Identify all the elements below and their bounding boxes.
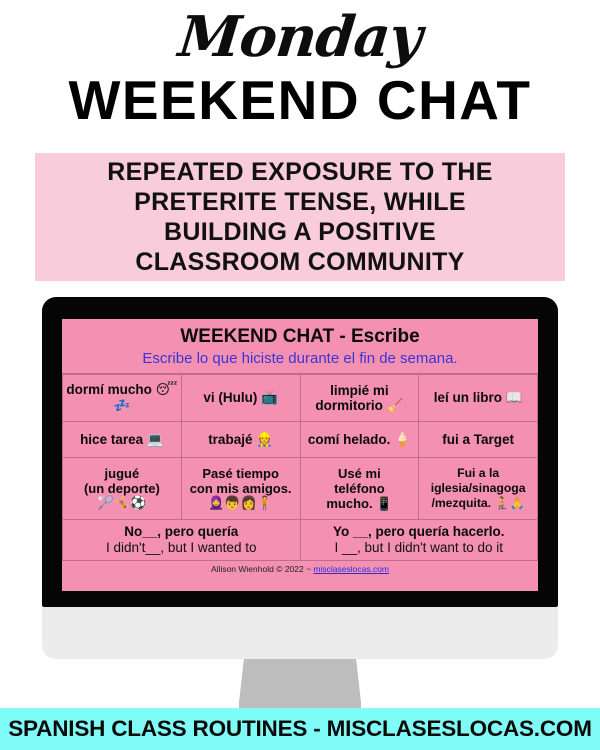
worker-emoji: 👷 [256,432,273,448]
cell-text: hice tarea [80,432,143,447]
table-row: jugué (un deporte) 🏸🤸⚽ Pasé tiempo con m… [63,458,538,520]
credit-link[interactable]: misclaseslocas.com [313,564,389,574]
cell-text: comí helado. [308,432,391,447]
screen-header: WEEKEND CHAT - Escribe Escribe lo que hi… [62,319,538,374]
friends-emoji: 🧕👦👩🧍 [184,496,298,511]
sentence-frame-affirmative[interactable]: Yo __, pero quería hacerlo. I __, but I … [300,520,538,561]
cell-text: vi (Hulu) [203,390,257,405]
bottom-banner-text: SPANISH CLASS ROUTINES - MISCLASESLOCAS.… [8,716,592,742]
book-emoji: 📖 [506,390,523,406]
praying-emoji: 🧎🙏 [494,496,524,510]
sentence-english: I __, but I didn't want to do it [303,540,536,556]
cell-text: limpié mi dormitorio [315,383,388,413]
screen-subtitle: Escribe lo que hiciste durante el fin de… [66,349,534,368]
broom-emoji: 🧹 [387,398,404,414]
cell-text: dormí mucho [66,382,152,397]
sentence-frame-negative[interactable]: No__, pero quería I didn't__, but I want… [63,520,301,561]
table-cell[interactable]: Pasé tiempo con mis amigos. 🧕👦👩🧍 [181,458,300,520]
page-title: WEEKEND CHAT [0,70,600,130]
table-cell[interactable]: Usé mi teléfono mucho. 📱 [300,458,419,520]
ice-cream-emoji: 🍦 [394,432,411,448]
table-row: hice tarea 💻 trabajé 👷 comí helado. 🍦 fu… [63,422,538,458]
table-cell[interactable]: leí un libro 📖 [419,375,538,422]
table-cell[interactable]: hice tarea 💻 [63,422,182,458]
table-cell[interactable]: Fui a la iglesia/sinagoga /mezquita. 🧎🙏 [419,458,538,520]
page-header: Monday WEEKEND CHAT [0,0,600,130]
sentence-english: I didn't__, but I wanted to [65,540,298,556]
table-cell[interactable]: trabajé 👷 [181,422,300,458]
monitor-chin [42,607,558,659]
credit-line: Allison Wienhold © 2022 ~ misclaseslocas… [62,561,538,574]
table-cell[interactable]: comí helado. 🍦 [300,422,419,458]
phone-emoji: 📱 [376,497,392,512]
credit-prefix: Allison Wienhold © 2022 ~ [211,564,313,574]
table-cell[interactable]: limpié mi dormitorio 🧹 [300,375,419,422]
monitor-bezel: WEEKEND CHAT - Escribe Escribe lo que hi… [42,297,558,607]
tv-emoji: 📺 [261,390,278,406]
subtitle-banner: REPEATED EXPOSURE TO THE PRETERITE TENSE… [35,153,565,281]
script-title: Monday [0,6,600,68]
monitor-stand [239,659,361,711]
sentence-spanish: No__, pero quería [65,524,298,540]
table-row: dormí mucho 😴💤 vi (Hulu) 📺 limpié mi dor… [63,375,538,422]
table-cell[interactable]: dormí mucho 😴💤 [63,375,182,422]
subtitle-text: REPEATED EXPOSURE TO THE PRETERITE TENSE… [99,157,501,277]
cell-text: leí un libro [434,390,502,405]
cell-text: trabajé [208,432,252,447]
sentence-spanish: Yo __, pero quería hacerlo. [303,524,536,540]
sports-emoji: 🏸🤸⚽ [65,496,179,511]
screen-title: WEEKEND CHAT - Escribe [66,325,534,348]
table-cell[interactable]: jugué (un deporte) 🏸🤸⚽ [63,458,182,520]
cell-text: jugué (un deporte) [65,466,179,496]
table-cell[interactable]: vi (Hulu) 📺 [181,375,300,422]
cell-text: Pasé tiempo con mis amigos. [184,466,298,496]
monitor-screen: WEEKEND CHAT - Escribe Escribe lo que hi… [62,319,538,591]
laptop-emoji: 💻 [147,432,164,448]
weekend-chat-table: dormí mucho 😴💤 vi (Hulu) 📺 limpié mi dor… [62,374,538,561]
sentence-frames-row: No__, pero quería I didn't__, but I want… [63,520,538,561]
bottom-banner: SPANISH CLASS ROUTINES - MISCLASESLOCAS.… [0,708,600,750]
cell-text: fui a Target [442,432,514,447]
table-cell[interactable]: fui a Target [419,422,538,458]
